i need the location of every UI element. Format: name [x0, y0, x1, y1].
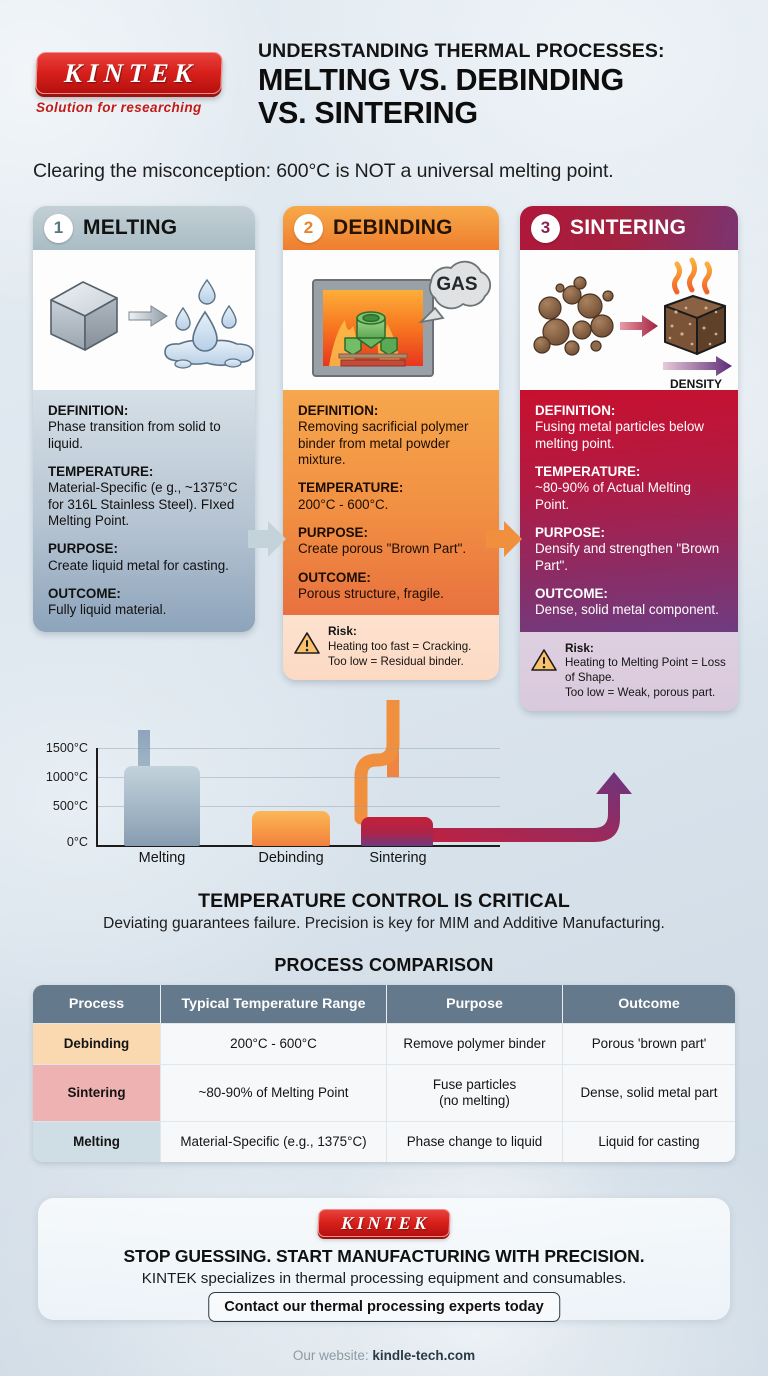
- page-title: MELTING VS. DEBINDING VS. SINTERING: [258, 64, 750, 129]
- risk-line-2: Too low = Residual binder.: [328, 655, 464, 668]
- furnace-gas-icon: GAS: [283, 250, 499, 390]
- purpose-label: PURPOSE:: [535, 525, 725, 541]
- y-axis-line: [96, 748, 98, 846]
- table-row: Sintering ~80-90% of Melting Point Fuse …: [33, 1064, 735, 1121]
- risk-line-1: Heating too fast = Cracking.: [328, 640, 471, 653]
- purpose-block: PURPOSE: Create liquid metal for casting…: [48, 541, 242, 574]
- temperature-label: TEMPERATURE:: [298, 480, 486, 496]
- website-url[interactable]: kindle-tech.com: [372, 1348, 475, 1363]
- column-header-purpose: Purpose: [387, 985, 563, 1023]
- card-title: SINTERING: [570, 216, 686, 240]
- card-header-sintering: 3 SINTERING: [520, 206, 738, 250]
- logo-plate: KINTEK: [35, 52, 222, 94]
- bar-debinding: [252, 811, 330, 846]
- page-title-line2: VS. SINTERING: [258, 97, 750, 130]
- warning-icon: [531, 648, 557, 672]
- column-header-outcome: Outcome: [563, 985, 735, 1023]
- kintek-logo: KINTEK Solution for researching: [36, 52, 226, 115]
- card-header-melting: 1 MELTING: [33, 206, 255, 250]
- outcome-value: Dense, solid metal component.: [535, 602, 719, 617]
- table-header-row: Process Typical Temperature Range Purpos…: [33, 985, 735, 1023]
- outcome-label: OUTCOME:: [48, 586, 242, 602]
- title-block: UNDERSTANDING THERMAL PROCESSES: MELTING…: [258, 40, 750, 130]
- card-body-debinding: DEFINITION: Removing sacrificial polymer…: [283, 390, 499, 615]
- gas-label: GAS: [436, 274, 477, 295]
- flow-arrow-debinding-to-sintering: [486, 521, 522, 557]
- cell-process: Debinding: [33, 1023, 161, 1064]
- critical-subtext: Deviating guarantees failure. Precision …: [0, 915, 768, 933]
- bar-melting: [124, 766, 200, 846]
- cell-purpose-line1: Fuse particles: [433, 1077, 516, 1092]
- definition-value: Fusing metal particles below melting poi…: [535, 419, 704, 450]
- table-row: Debinding 200°C - 600°C Remove polymer b…: [33, 1023, 735, 1064]
- outcome-value: Porous structure, fragile.: [298, 586, 444, 601]
- purpose-block: PURPOSE: Densify and strengthen "Brown P…: [535, 525, 725, 574]
- y-tick-0: 0°C: [67, 835, 88, 849]
- purpose-value: Densify and strengthen "Brown Part".: [535, 541, 719, 572]
- contact-experts-button[interactable]: Contact our thermal processing experts t…: [208, 1292, 560, 1322]
- y-tick-1000: 1000°C: [46, 770, 88, 784]
- definition-block: DEFINITION: Fusing metal particles below…: [535, 403, 725, 452]
- definition-label: DEFINITION:: [535, 403, 725, 419]
- definition-block: DEFINITION: Phase transition from solid …: [48, 403, 242, 452]
- footer-kintek-logo: KINTEK: [318, 1209, 450, 1237]
- cell-purpose: Fuse particles (no melting): [387, 1064, 563, 1121]
- cell-purpose-line2: (no melting): [439, 1093, 510, 1108]
- definition-block: DEFINITION: Removing sacrificial polymer…: [298, 403, 486, 468]
- risk-line-2: Too low = Weak, porous part.: [565, 686, 715, 699]
- risk-box-debinding: Risk: Heating too fast = Cracking. Too l…: [283, 615, 499, 680]
- cell-range: 200°C - 600°C: [161, 1023, 387, 1064]
- footer-cta-card: KINTEK STOP GUESSING. START MANUFACTURIN…: [38, 1198, 730, 1320]
- card-header-debinding: 2 DEBINDING: [283, 206, 499, 250]
- logo-wordmark: KINTEK: [36, 53, 221, 93]
- step-number-badge: 1: [44, 214, 73, 243]
- card-body-sintering: DEFINITION: Fusing metal particles below…: [520, 390, 738, 632]
- risk-text: Risk: Heating too fast = Cracking. Too l…: [328, 624, 471, 669]
- risk-text: Risk: Heating to Melting Point = Loss of…: [565, 641, 727, 700]
- melting-illustration: [33, 250, 255, 390]
- card-title: MELTING: [83, 216, 177, 240]
- footer-logo-plate: KINTEK: [318, 1209, 451, 1237]
- logo-tagline: Solution for researching: [36, 100, 226, 115]
- temperature-block: TEMPERATURE: Material-Specific (e g., ~1…: [48, 464, 242, 529]
- card-body-melting: DEFINITION: Phase transition from solid …: [33, 390, 255, 632]
- website-line: Our website: kindle-tech.com: [0, 1348, 768, 1363]
- definition-value: Removing sacrificial polymer binder from…: [298, 419, 468, 467]
- cell-purpose: Phase change to liquid: [387, 1121, 563, 1162]
- purpose-value: Create porous "Brown Part".: [298, 541, 466, 556]
- solid-to-liquid-icon: [33, 250, 255, 390]
- outcome-label: OUTCOME:: [535, 586, 725, 602]
- process-card-sintering[interactable]: 3 SINTERING: [520, 206, 738, 711]
- outcome-value: Fully liquid material.: [48, 602, 166, 617]
- definition-value: Phase transition from solid to liquid.: [48, 419, 221, 450]
- cell-outcome: Porous 'brown part': [563, 1023, 735, 1064]
- sintering-illustration: DENSITY: [520, 250, 738, 390]
- temperature-value: Material-Specific (e g., ~1375°C for 316…: [48, 480, 238, 528]
- critical-heading: TEMPERATURE CONTROL IS CRITICAL: [0, 890, 768, 913]
- temperature-block: TEMPERATURE: ~80-90% of Actual Melting P…: [535, 464, 725, 513]
- infographic-page: KINTEK Solution for researching UNDERSTA…: [0, 0, 768, 1376]
- cell-purpose: Remove polymer binder: [387, 1023, 563, 1064]
- temperature-bar-chart: 1500°C 1000°C 500°C 0°C Melting Debindin…: [30, 748, 520, 870]
- temperature-value: ~80-90% of Actual Melting Point.: [535, 480, 691, 511]
- gridline: [96, 748, 500, 749]
- temperature-value: 200°C - 600°C.: [298, 497, 388, 512]
- y-tick-1500: 1500°C: [46, 741, 88, 755]
- footer-headline: STOP GUESSING. START MANUFACTURING WITH …: [38, 1246, 730, 1267]
- outcome-label: OUTCOME:: [298, 570, 486, 586]
- particles-to-dense-block-icon: DENSITY: [520, 250, 738, 390]
- process-comparison-table: Process Typical Temperature Range Purpos…: [33, 985, 735, 1162]
- debinding-illustration: GAS: [283, 250, 499, 390]
- x-label-debinding: Debinding: [258, 850, 323, 866]
- table-row: Melting Material-Specific (e.g., 1375°C)…: [33, 1121, 735, 1162]
- purpose-label: PURPOSE:: [48, 541, 242, 557]
- risk-line-1: Heating to Melting Point = Loss of Shape…: [565, 656, 726, 684]
- column-header-process: Process: [33, 985, 161, 1023]
- chart-plot-area: [96, 748, 500, 846]
- outcome-block: OUTCOME: Porous structure, fragile.: [298, 570, 486, 603]
- process-card-melting[interactable]: 1 MELTING: [33, 206, 255, 632]
- cell-process: Sintering: [33, 1064, 161, 1121]
- process-comparison-title: PROCESS COMPARISON: [0, 955, 768, 976]
- definition-label: DEFINITION:: [298, 403, 486, 419]
- risk-label: Risk:: [328, 624, 357, 638]
- header: KINTEK Solution for researching UNDERSTA…: [0, 0, 768, 150]
- step-number-badge: 2: [294, 214, 323, 243]
- cell-outcome: Liquid for casting: [563, 1121, 735, 1162]
- definition-label: DEFINITION:: [48, 403, 242, 419]
- cell-outcome: Dense, solid metal part: [563, 1064, 735, 1121]
- x-label-melting: Melting: [139, 850, 186, 866]
- bar-sintering: [361, 817, 433, 846]
- outcome-block: OUTCOME: Dense, solid metal component.: [535, 586, 725, 619]
- step-number-badge: 3: [531, 214, 560, 243]
- temperature-label: TEMPERATURE:: [48, 464, 242, 480]
- x-label-sintering: Sintering: [369, 850, 426, 866]
- title-overline: UNDERSTANDING THERMAL PROCESSES:: [258, 40, 750, 62]
- temperature-block: TEMPERATURE: 200°C - 600°C.: [298, 480, 486, 513]
- footer-subtext: KINTEK specializes in thermal processing…: [38, 1270, 730, 1287]
- density-label: DENSITY: [670, 377, 722, 390]
- page-title-line1: MELTING VS. DEBINDING: [258, 64, 750, 97]
- cell-range: ~80-90% of Melting Point: [161, 1064, 387, 1121]
- process-card-debinding[interactable]: 2 DEBINDING: [283, 206, 499, 680]
- column-header-range: Typical Temperature Range: [161, 985, 387, 1023]
- cell-process: Melting: [33, 1121, 161, 1162]
- page-subtitle: Clearing the misconception: 600°C is NOT…: [33, 160, 743, 183]
- chart-y-axis: 1500°C 1000°C 500°C 0°C: [30, 748, 92, 846]
- website-prefix: Our website:: [293, 1348, 369, 1363]
- outcome-block: OUTCOME: Fully liquid material.: [48, 586, 242, 619]
- footer-logo-wordmark: KINTEK: [338, 1213, 430, 1234]
- purpose-block: PURPOSE: Create porous "Brown Part".: [298, 525, 486, 558]
- temperature-label: TEMPERATURE:: [535, 464, 725, 480]
- purpose-label: PURPOSE:: [298, 525, 486, 541]
- card-title: DEBINDING: [333, 216, 453, 240]
- cell-range: Material-Specific (e.g., 1375°C): [161, 1121, 387, 1162]
- purpose-value: Create liquid metal for casting.: [48, 558, 229, 573]
- warning-icon: [294, 631, 320, 655]
- risk-box-sintering: Risk: Heating to Melting Point = Loss of…: [520, 632, 738, 711]
- flow-arrow-melting-to-debinding: [248, 521, 286, 557]
- risk-label: Risk:: [565, 641, 594, 655]
- y-tick-500: 500°C: [53, 799, 88, 813]
